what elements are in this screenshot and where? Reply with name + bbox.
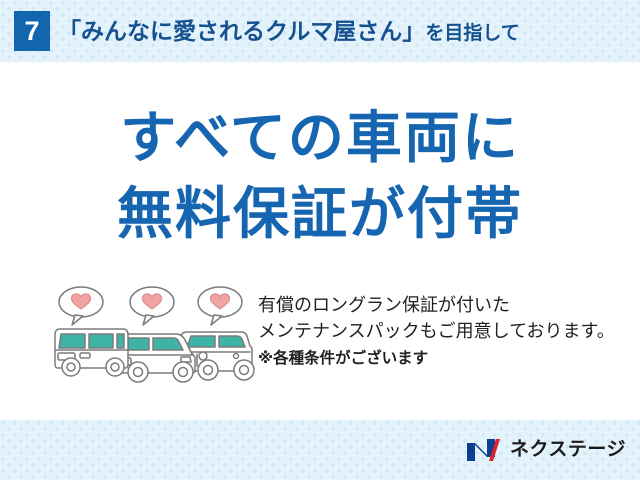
lower-row: 有償のロングラン保証が付いた メンテナンスパックもご用意しております。 ※各種条…: [0, 284, 640, 404]
content-panel: すべての車両に 無料保証が付帯: [0, 62, 640, 420]
car-wagon: [55, 329, 128, 376]
brand-logo: ネクステージ: [465, 437, 626, 463]
headline: すべての車両に 無料保証が付帯: [0, 100, 640, 252]
headline-line-2: 無料保証が付帯: [0, 176, 640, 252]
promotional-banner: 7 「みんなに愛されるクルマ屋さん」を目指して すべての車両に 無料保証が付帯: [0, 0, 640, 480]
header-title-suffix: を目指して: [425, 23, 519, 44]
header-band: 7 「みんなに愛されるクルマ屋さん」を目指して: [0, 0, 640, 62]
description-line-2: メンテナンスパックもご用意しております。: [258, 318, 628, 344]
headline-line-1: すべての車両に: [0, 100, 640, 176]
heart-bubble-3: [198, 287, 242, 325]
heart-bubble-2: [130, 287, 174, 325]
nexstage-n-mark-icon: [465, 437, 501, 463]
section-number-badge: 7: [14, 11, 50, 51]
cars-and-hearts-svg: [45, 284, 260, 394]
brand-name-text: ネクステージ: [510, 440, 626, 460]
description-note: ※各種条件がございます: [258, 346, 628, 372]
header-title-quoted: 「みんなに愛されるクルマ屋さん」: [58, 18, 425, 44]
description-block: 有償のロングラン保証が付いた メンテナンスパックもご用意しております。 ※各種条…: [258, 292, 628, 372]
footer-band: ネクステージ: [0, 420, 640, 480]
three-cars-illustration: [45, 284, 260, 394]
description-line-1: 有償のロングラン保証が付いた: [258, 292, 628, 318]
heart-bubble-1: [59, 287, 103, 325]
header-title: 「みんなに愛されるクルマ屋さん」を目指して: [58, 14, 520, 48]
